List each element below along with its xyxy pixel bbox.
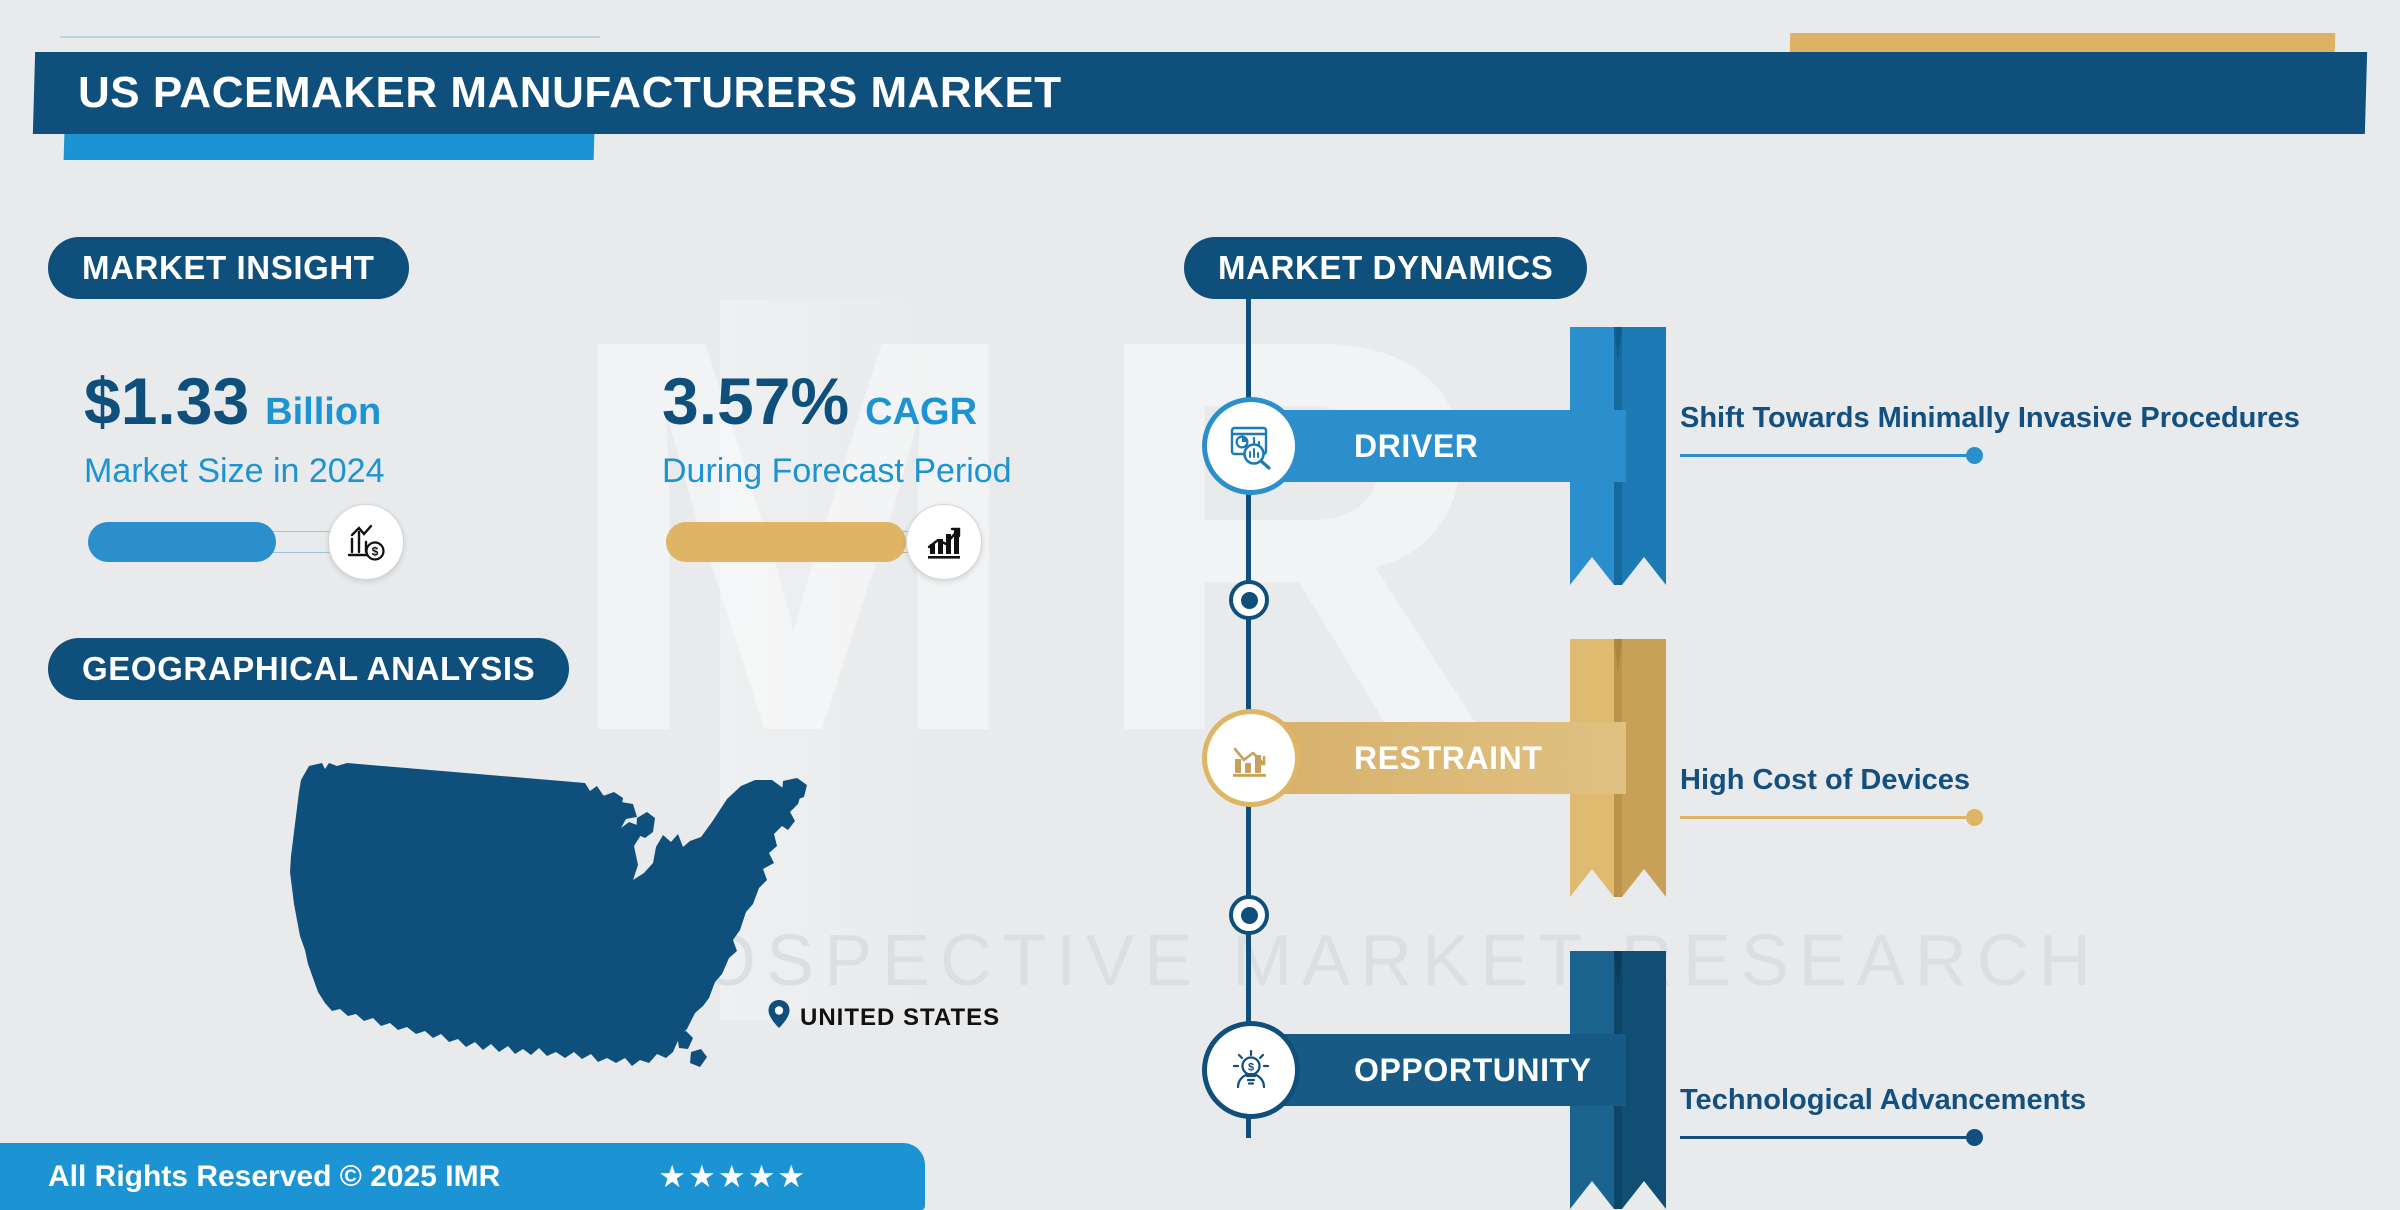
metric-market-size: $1.33 Billion Market Size in 2024 — [84, 368, 385, 491]
map-region-text: UNITED STATES — [800, 1004, 1000, 1032]
svg-text:$: $ — [1248, 1062, 1254, 1074]
watermark-text: OSPECTIVE MARKET RESEARCH — [700, 920, 2101, 1002]
opportunity-description: Technological Advancements — [1680, 1082, 2300, 1119]
opportunity-underline — [1680, 1129, 2300, 1145]
driver-description: Shift Towards Minimally Invasive Procedu… — [1680, 400, 2300, 437]
lightbulb-dollar-icon: $ — [1207, 1026, 1295, 1114]
underline-line — [1680, 1136, 1974, 1139]
market-size-unit: Billion — [265, 393, 381, 431]
timeline-node — [1229, 580, 1269, 620]
metric-value-row: 3.57% CAGR — [662, 368, 1012, 434]
cagr-progress — [666, 522, 946, 562]
infographic-canvas: MR OSPECTIVE MARKET RESEARCH US PACEMAKE… — [0, 0, 2400, 1210]
section-pill-market-insight: MARKET INSIGHT — [48, 237, 409, 299]
timeline-node — [1229, 895, 1269, 935]
market-size-caption: Market Size in 2024 — [84, 452, 385, 491]
header-hairline — [60, 36, 600, 38]
bar-chart-dollar-icon: $ — [328, 504, 404, 580]
underline-line — [1680, 454, 1974, 457]
progress-fill — [666, 522, 906, 562]
metric-value-row: $1.33 Billion — [84, 368, 385, 434]
market-size-value: $1.33 — [84, 368, 249, 434]
cagr-caption: During Forecast Period — [662, 452, 1012, 491]
driver-underline — [1680, 447, 2300, 463]
opportunity-label: OPPORTUNITY — [1354, 1034, 1592, 1106]
driver-label: DRIVER — [1354, 410, 1479, 482]
market-size-progress: $ — [88, 522, 368, 562]
restraint-description-block: High Cost of Devices — [1680, 762, 2300, 825]
underline-dot — [1966, 1129, 1983, 1146]
footer-bar: All Rights Reserved © 2025 IMR ★★★★★ — [0, 1143, 925, 1210]
map-region-label: UNITED STATES — [768, 1000, 1000, 1035]
opportunity-description-block: Technological Advancements — [1680, 1082, 2300, 1145]
analytics-search-icon — [1207, 402, 1295, 490]
restraint-description: High Cost of Devices — [1680, 762, 2300, 799]
copyright-text: All Rights Reserved © 2025 IMR — [48, 1160, 500, 1194]
svg-text:$: $ — [372, 545, 379, 559]
growth-chart-icon — [906, 504, 982, 580]
declining-bar-chart-icon — [1207, 714, 1295, 802]
section-pill-geographical-analysis: GEOGRAPHICAL ANALYSIS — [48, 638, 569, 700]
restraint-underline — [1680, 809, 2300, 825]
metric-cagr: 3.57% CAGR During Forecast Period — [662, 368, 1012, 491]
section-pill-market-dynamics: MARKET DYNAMICS — [1184, 237, 1587, 299]
title-underline-accent — [64, 134, 595, 160]
rating-stars: ★★★★★ — [658, 1159, 807, 1195]
underline-dot — [1966, 809, 1983, 826]
cagr-unit: CAGR — [865, 393, 977, 431]
underline-dot — [1966, 447, 1983, 464]
restraint-label: RESTRAINT — [1354, 722, 1543, 794]
driver-description-block: Shift Towards Minimally Invasive Procedu… — [1680, 400, 2300, 463]
page-title: US PACEMAKER MANUFACTURERS MARKET — [78, 60, 1578, 126]
us-map — [285, 722, 815, 1097]
location-pin-icon — [768, 1000, 790, 1035]
underline-line — [1680, 816, 1974, 819]
cagr-value: 3.57% — [662, 368, 849, 434]
progress-fill — [88, 522, 276, 562]
